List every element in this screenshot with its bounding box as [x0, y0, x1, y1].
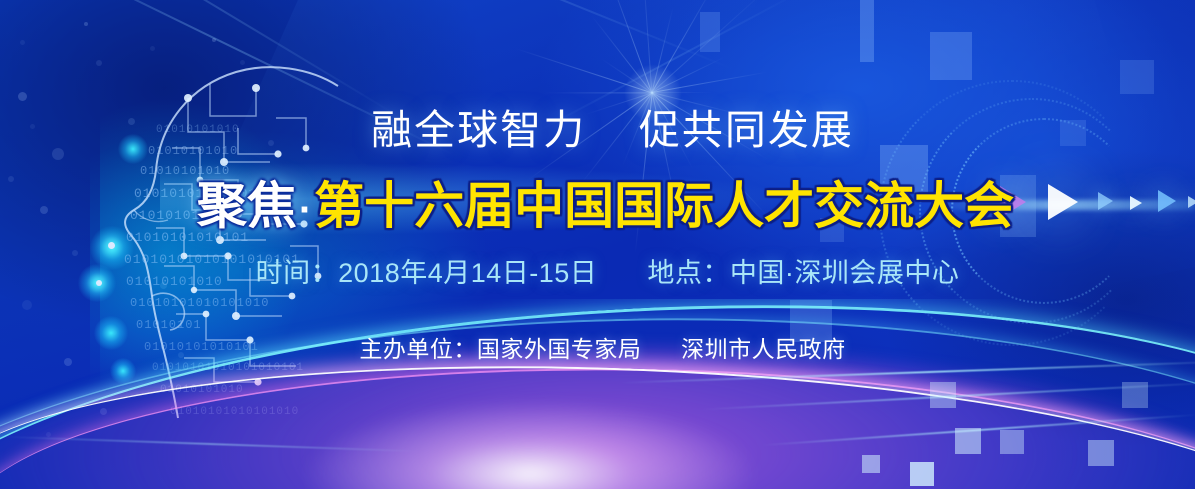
banner-organizer: 主办单位：国家外国专家局 深圳市人民政府 [0, 330, 1195, 364]
time-label: 时间： [256, 258, 339, 288]
tagline-part-1: 融全球智力 [371, 107, 586, 153]
title-prefix: 聚焦 [197, 178, 297, 234]
banner-text-content: 融全球智力 促共同发展 聚焦·第十六届中国国际人才交流大会 时间：2018年4月… [0, 0, 1195, 489]
title-main: 第十六届中国国际人才交流大会 [314, 178, 1014, 234]
banner-title: 聚焦·第十六届中国国际人才交流大会 [0, 166, 1195, 238]
organizer-name-2: 深圳市人民政府 [681, 336, 846, 362]
event-banner: 0101010101001010101010010101010100101010… [0, 0, 1195, 489]
organizer-name-1: 国家外国专家局 [477, 336, 642, 362]
tagline-part-2: 促共同发展 [639, 107, 854, 153]
title-separator: · [297, 188, 314, 232]
place-value: 中国·深圳会展中心 [730, 258, 960, 288]
place-label: 地点： [647, 258, 730, 288]
banner-tagline: 融全球智力 促共同发展 [0, 96, 1195, 156]
time-value: 2018年4月14日-15日 [338, 258, 597, 288]
organizer-label: 主办单位： [359, 336, 477, 362]
banner-meta: 时间：2018年4月14日-15日 地点：中国·深圳会展中心 [0, 251, 1195, 290]
